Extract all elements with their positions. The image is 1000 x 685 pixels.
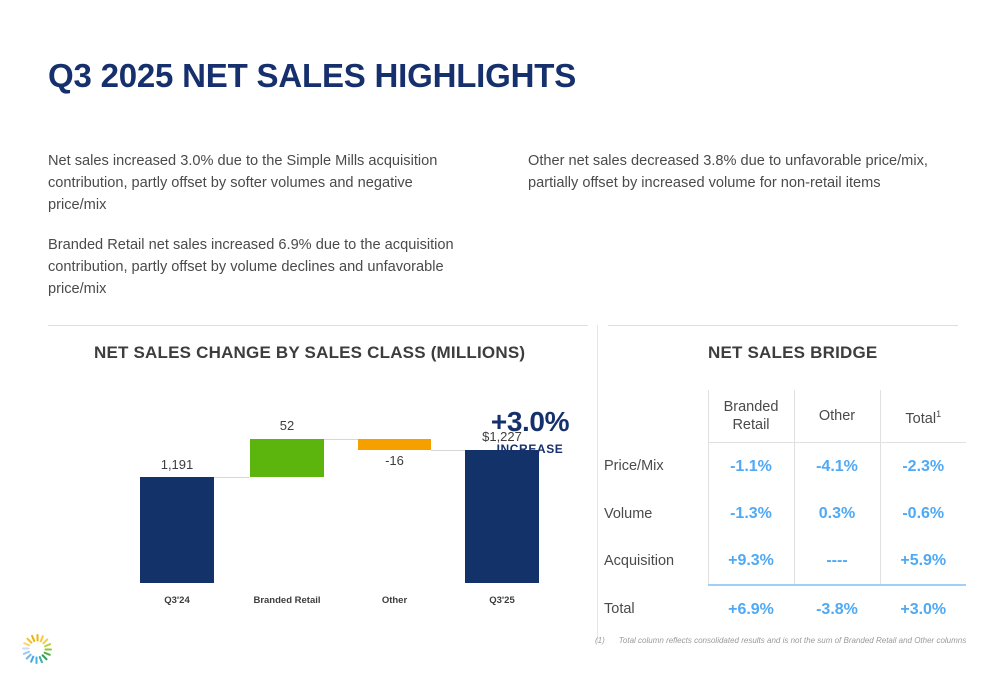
cell-volume-other: 0.3% bbox=[794, 490, 880, 537]
company-logo bbox=[20, 632, 54, 666]
cell-total-total: +3.0% bbox=[880, 585, 966, 633]
header-blank bbox=[604, 390, 708, 443]
cell-acquisition-other: ---- bbox=[794, 537, 880, 585]
header-total-label: Total bbox=[905, 410, 936, 426]
connector-line bbox=[324, 439, 358, 440]
cell-acquisition-branded-retail: +9.3% bbox=[708, 537, 794, 585]
bar-other bbox=[358, 439, 431, 450]
highlight-paragraph: Net sales increased 3.0% due to the Simp… bbox=[48, 150, 468, 216]
connector-line bbox=[214, 477, 250, 478]
table-header-row: Branded Retail Other Total1 bbox=[604, 390, 966, 443]
bridge-heading: NET SALES BRIDGE bbox=[708, 343, 877, 363]
divider-vertical bbox=[597, 325, 598, 643]
row-label-total: Total bbox=[604, 585, 708, 633]
cell-volume-total: -0.6% bbox=[880, 490, 966, 537]
table-row: Acquisition +9.3% ---- +5.9% bbox=[604, 537, 966, 585]
callout-word: INCREASE bbox=[470, 442, 590, 456]
divider-right bbox=[608, 325, 958, 326]
header-branded-retail: Branded Retail bbox=[708, 390, 794, 443]
bar-branded-retail bbox=[250, 439, 324, 477]
cell-price-mix-branded-retail: -1.1% bbox=[708, 443, 794, 491]
cell-volume-branded-retail: -1.3% bbox=[708, 490, 794, 537]
table-row: Volume -1.3% 0.3% -0.6% bbox=[604, 490, 966, 537]
page-title: Q3 2025 NET SALES HIGHLIGHTS bbox=[48, 57, 576, 95]
table-row: Price/Mix -1.1% -4.1% -2.3% bbox=[604, 443, 966, 491]
axis-label-branded-retail: Branded Retail bbox=[250, 595, 324, 606]
table-row-total: Total +6.9% -3.8% +3.0% bbox=[604, 585, 966, 633]
cell-total-branded-retail: +6.9% bbox=[708, 585, 794, 633]
axis-label-q3-25: Q3'25 bbox=[465, 595, 539, 606]
bar-q3-24 bbox=[140, 477, 214, 583]
divider-left bbox=[48, 325, 588, 326]
footnote: (1)Total column reflects consolidated re… bbox=[595, 636, 966, 645]
row-label-acquisition: Acquisition bbox=[604, 537, 708, 585]
cell-price-mix-other: -4.1% bbox=[794, 443, 880, 491]
highlight-paragraph: Branded Retail net sales increased 6.9% … bbox=[48, 234, 468, 300]
highlights-left-column: Net sales increased 3.0% due to the Simp… bbox=[48, 150, 468, 300]
cell-price-mix-total: -2.3% bbox=[880, 443, 966, 491]
row-label-volume: Volume bbox=[604, 490, 708, 537]
bar-q3-25 bbox=[465, 450, 539, 583]
header-total-superscript: 1 bbox=[936, 409, 941, 419]
cell-total-other: -3.8% bbox=[794, 585, 880, 633]
bar-value-label: 1,191 bbox=[140, 457, 214, 472]
row-label-price-mix: Price/Mix bbox=[604, 443, 708, 491]
callout-value: +3.0% bbox=[470, 408, 590, 436]
waterfall-chart: 1,191 52 -16 $1,227 Q3'24 Branded Retail… bbox=[62, 395, 502, 620]
chart-heading: NET SALES CHANGE BY SALES CLASS (MILLION… bbox=[94, 343, 525, 363]
increase-callout: +3.0% INCREASE bbox=[470, 408, 590, 456]
net-sales-bridge-table: Branded Retail Other Total1 Price/Mix -1… bbox=[604, 390, 966, 633]
bar-value-label: -16 bbox=[358, 453, 431, 468]
axis-label-other: Other bbox=[358, 595, 431, 606]
footnote-mark: (1) bbox=[595, 636, 605, 645]
axis-label-q3-24: Q3'24 bbox=[140, 595, 214, 606]
cell-acquisition-total: +5.9% bbox=[880, 537, 966, 585]
header-total: Total1 bbox=[880, 390, 966, 443]
chart-plot-area: 1,191 52 -16 $1,227 Q3'24 Branded Retail… bbox=[62, 395, 502, 588]
connector-line bbox=[431, 450, 465, 451]
header-other: Other bbox=[794, 390, 880, 443]
footnote-text: Total column reflects consolidated resul… bbox=[619, 636, 966, 645]
bar-value-label: 52 bbox=[250, 418, 324, 433]
highlights-right-column: Other net sales decreased 3.8% due to un… bbox=[528, 150, 958, 194]
highlight-paragraph: Other net sales decreased 3.8% due to un… bbox=[528, 150, 958, 194]
